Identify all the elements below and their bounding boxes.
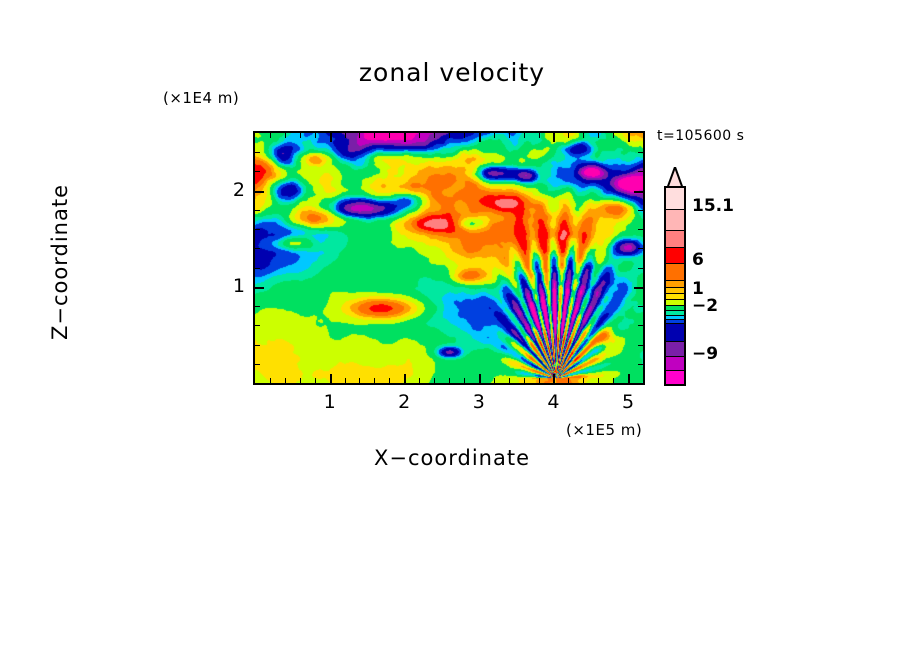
y-minor-tick bbox=[255, 248, 260, 249]
y-minor-tick-right bbox=[638, 248, 643, 249]
colorbar-tick-label: −2 bbox=[692, 296, 718, 316]
y-minor-tick bbox=[255, 171, 260, 172]
time-annotation: t=105600 s bbox=[657, 128, 744, 144]
colorbar-band bbox=[666, 371, 684, 385]
x-minor-tick bbox=[464, 378, 465, 383]
x-minor-tick bbox=[449, 378, 450, 383]
colorbar-band bbox=[666, 231, 684, 248]
x-minor-tick bbox=[374, 378, 375, 383]
x-major-tick-top bbox=[479, 133, 481, 142]
x-minor-tick bbox=[359, 378, 360, 383]
x-major-tick-top bbox=[628, 133, 630, 142]
colorbar-band bbox=[666, 281, 684, 288]
y-major-tick-right bbox=[634, 191, 643, 193]
x-minor-tick bbox=[345, 378, 346, 383]
x-minor-tick bbox=[509, 378, 510, 383]
x-axis-units-label: (×1E5 m) bbox=[566, 421, 642, 439]
x-major-tick bbox=[330, 374, 332, 383]
x-minor-tick-top bbox=[300, 133, 301, 138]
y-minor-tick bbox=[255, 364, 260, 365]
y-minor-tick-right bbox=[638, 345, 643, 346]
x-minor-tick-top bbox=[613, 133, 614, 138]
y-minor-tick bbox=[255, 306, 260, 307]
x-major-tick-top bbox=[404, 133, 406, 142]
x-minor-tick bbox=[598, 378, 599, 383]
x-major-tick bbox=[479, 374, 481, 383]
x-minor-tick-top bbox=[583, 133, 584, 138]
contour-field-canvas bbox=[255, 133, 643, 383]
x-minor-tick-top bbox=[345, 133, 346, 138]
x-minor-tick-top bbox=[419, 133, 420, 138]
x-tick-label: 3 bbox=[459, 391, 499, 413]
y-major-tick-right bbox=[634, 287, 643, 289]
x-minor-tick-top bbox=[509, 133, 510, 138]
x-minor-tick-top bbox=[285, 133, 286, 138]
x-minor-tick-top bbox=[315, 133, 316, 138]
x-minor-tick bbox=[315, 378, 316, 383]
x-minor-tick bbox=[568, 378, 569, 383]
contour-plot-area bbox=[253, 131, 645, 385]
colorbar-band bbox=[666, 264, 684, 281]
x-minor-tick-top bbox=[270, 133, 271, 138]
colorbar-tick-label: 6 bbox=[692, 250, 704, 270]
y-minor-tick-right bbox=[638, 268, 643, 269]
y-minor-tick-right bbox=[638, 152, 643, 153]
y-minor-tick-right bbox=[638, 171, 643, 172]
chart-title: zonal velocity bbox=[0, 58, 904, 87]
x-major-tick-top bbox=[330, 133, 332, 142]
x-major-tick bbox=[553, 374, 555, 383]
y-minor-tick-right bbox=[638, 325, 643, 326]
x-tick-label: 2 bbox=[384, 391, 424, 413]
x-major-tick-top bbox=[553, 133, 555, 142]
x-tick-label: 1 bbox=[310, 391, 350, 413]
y-minor-tick bbox=[255, 229, 260, 230]
colorbar-band bbox=[666, 357, 684, 372]
x-minor-tick-top bbox=[449, 133, 450, 138]
x-minor-tick bbox=[270, 378, 271, 383]
colorbar-band bbox=[666, 210, 684, 232]
y-major-tick bbox=[255, 191, 264, 193]
y-minor-tick bbox=[255, 325, 260, 326]
colorbar-band bbox=[666, 188, 684, 210]
x-minor-tick bbox=[300, 378, 301, 383]
colorbar-tick-label: −9 bbox=[692, 344, 718, 364]
y-minor-tick bbox=[255, 345, 260, 346]
x-tick-label: 4 bbox=[533, 391, 573, 413]
x-minor-tick-top bbox=[374, 133, 375, 138]
y-major-tick bbox=[255, 287, 264, 289]
x-axis-title: X−coordinate bbox=[0, 446, 904, 470]
colorbar-band bbox=[666, 324, 684, 342]
y-minor-tick-right bbox=[638, 306, 643, 307]
colorbar-band bbox=[666, 248, 684, 265]
x-minor-tick bbox=[583, 378, 584, 383]
colorbar-band bbox=[666, 342, 684, 357]
x-major-tick bbox=[628, 374, 630, 383]
y-minor-tick bbox=[255, 152, 260, 153]
x-minor-tick bbox=[389, 378, 390, 383]
x-minor-tick bbox=[539, 378, 540, 383]
x-minor-tick bbox=[419, 378, 420, 383]
y-minor-tick bbox=[255, 268, 260, 269]
x-minor-tick-top bbox=[359, 133, 360, 138]
x-minor-tick bbox=[494, 378, 495, 383]
colorbar-tick-label: 15.1 bbox=[692, 196, 734, 216]
x-minor-tick bbox=[524, 378, 525, 383]
y-axis-units-label: (×1E4 m) bbox=[163, 89, 239, 107]
x-minor-tick-top bbox=[434, 133, 435, 138]
x-minor-tick-top bbox=[464, 133, 465, 138]
x-minor-tick bbox=[434, 378, 435, 383]
x-major-tick bbox=[404, 374, 406, 383]
x-tick-label: 5 bbox=[608, 391, 648, 413]
x-minor-tick-top bbox=[539, 133, 540, 138]
x-minor-tick bbox=[613, 378, 614, 383]
y-minor-tick-right bbox=[638, 229, 643, 230]
y-tick-label: 1 bbox=[205, 275, 245, 297]
colorbar[interactable] bbox=[664, 186, 686, 386]
y-minor-tick-right bbox=[638, 364, 643, 365]
x-minor-tick bbox=[285, 378, 286, 383]
x-minor-tick-top bbox=[568, 133, 569, 138]
x-minor-tick-top bbox=[598, 133, 599, 138]
y-axis-title: Z−coordinate bbox=[48, 142, 72, 382]
y-tick-label: 2 bbox=[205, 179, 245, 201]
y-minor-tick bbox=[255, 210, 260, 211]
x-minor-tick-top bbox=[524, 133, 525, 138]
y-minor-tick-right bbox=[638, 210, 643, 211]
x-minor-tick-top bbox=[389, 133, 390, 138]
x-minor-tick-top bbox=[494, 133, 495, 138]
